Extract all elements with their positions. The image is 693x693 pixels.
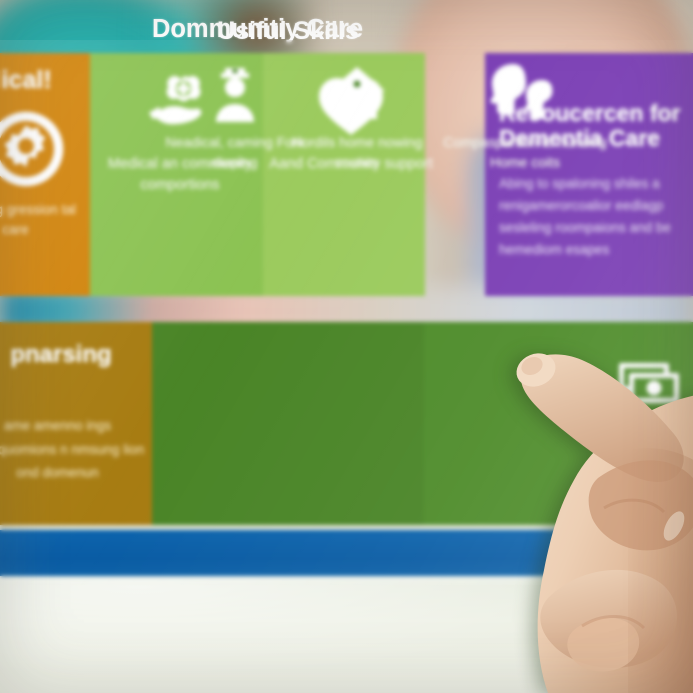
panel-nursing[interactable]: pnarsing ame amenno ings dorequomions n …	[0, 322, 152, 525]
panel-medical-title: dical!	[0, 67, 84, 94]
panel-medical[interactable]: dical! mputing gression tal care	[0, 53, 90, 296]
panel-nursing-body: ame amenno ings dorequomions n nmsung li…	[0, 414, 152, 485]
panel-resources-body: Abing to spaloning shiles a renigamerorc…	[499, 173, 693, 260]
useful-skills-column-2[interactable]: Nordils home nowing costies	[282, 62, 432, 173]
pointing-hand	[478, 330, 693, 693]
screenshot-canvas: dical! mputing gression tal care Dommuni…	[0, 0, 693, 693]
house-icon	[282, 62, 432, 124]
useful-skills-column-3[interactable]: Compaspartion to nunsing Home coits	[440, 62, 610, 173]
gear-icon	[0, 101, 74, 197]
two-heads-icon	[440, 62, 610, 124]
panel-medical-body: mputing gression tal care	[0, 200, 83, 239]
useful-skills-caption-3: Compaspartion to nunsing Home coits	[440, 132, 610, 173]
panel-useful-skills-title: Usiful Skills	[152, 18, 424, 45]
useful-skills-caption-2: Nordils home nowing costies	[282, 132, 432, 173]
panel-nursing-title: pnarsing	[0, 342, 152, 368]
